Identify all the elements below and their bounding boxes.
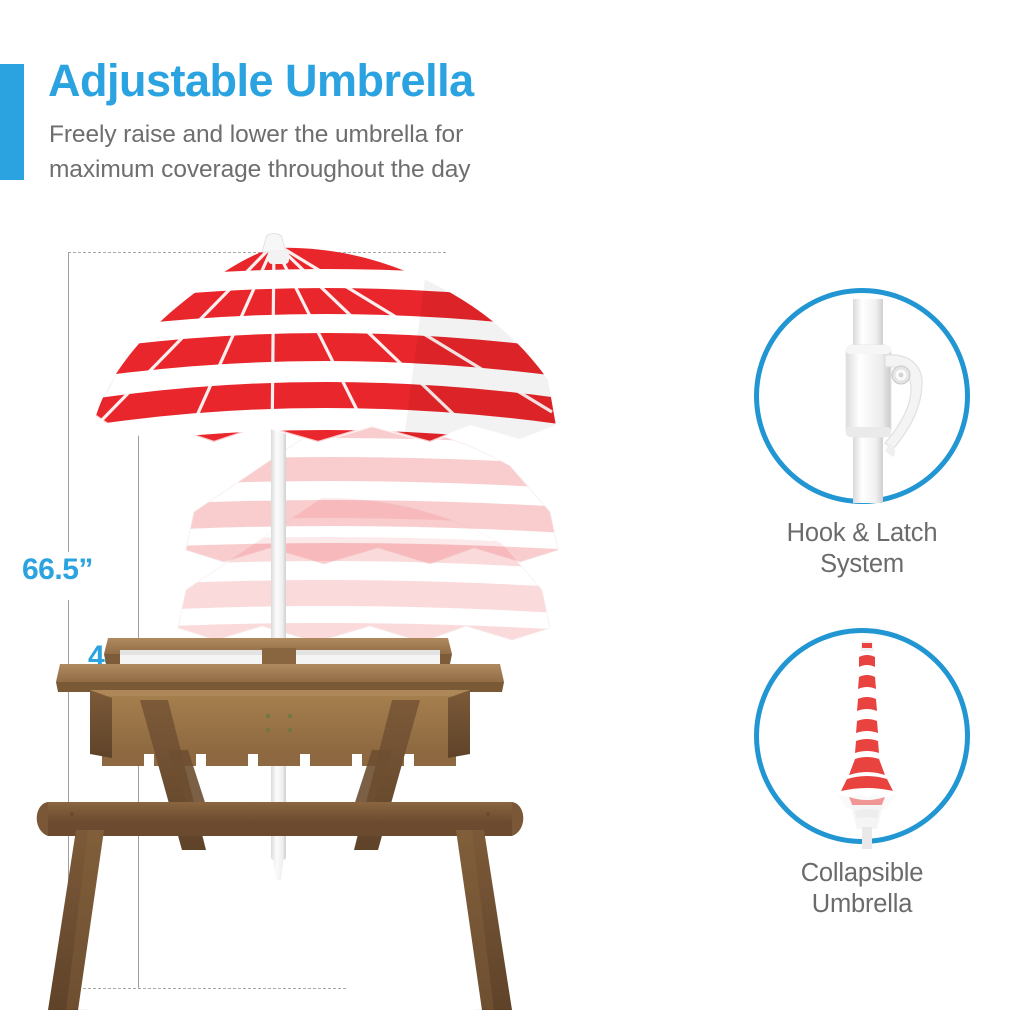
feature-label-hook: Hook & Latch System: [712, 518, 1012, 580]
page-title: Adjustable Umbrella: [48, 57, 474, 104]
furled-umbrella-icon: [759, 633, 975, 849]
feature-label-collapse: Collapsible Umbrella: [712, 858, 1012, 920]
pole-latch-icon: [759, 293, 975, 509]
feature-ring-collapse: [754, 628, 970, 844]
umbrella-finial: [262, 234, 286, 253]
umbrella-canopy: [60, 230, 600, 470]
product-illustration: [0, 230, 720, 1010]
page-subtitle: Freely raise and lower the umbrella for …: [49, 118, 470, 188]
picnic-table: [34, 638, 530, 1010]
infographic-canvas: Adjustable Umbrella Freely raise and low…: [0, 0, 1024, 1024]
header-accent-bar: [0, 64, 24, 180]
feature-collapsible-umbrella: Collapsible Umbrella: [712, 628, 1012, 920]
feature-hook-and-latch: Hook & Latch System: [712, 288, 1012, 580]
umbrella-ghost-upper: [38, 416, 638, 580]
bench-seat-front: [44, 802, 516, 822]
feature-ring-hook: [754, 288, 970, 504]
table-top-near-plank: [56, 664, 504, 682]
